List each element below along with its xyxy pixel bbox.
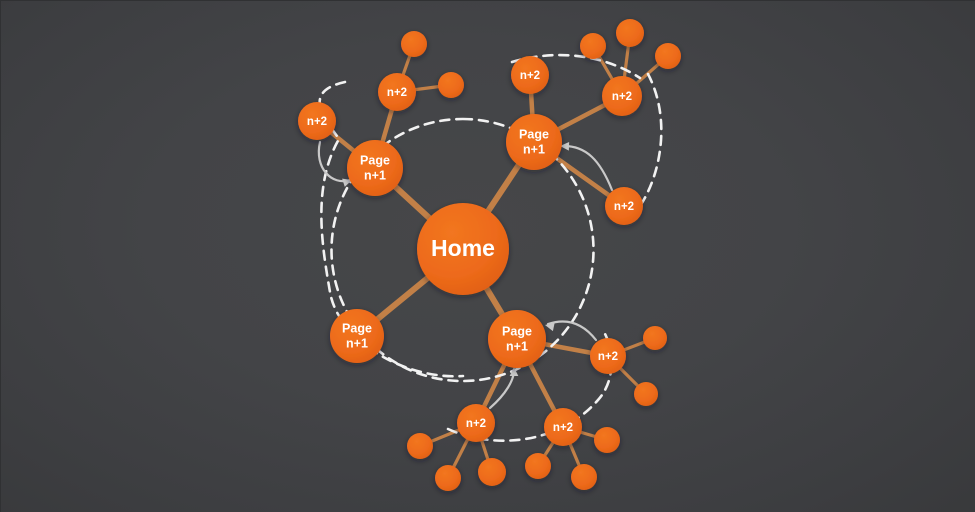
node-circle[interactable] [330,309,384,363]
node-circle[interactable] [506,114,562,170]
node-l13-leaf[interactable] [594,427,620,453]
node-p1-bl[interactable]: Pagen+1 [330,309,384,363]
node-circle[interactable] [401,31,427,57]
node-circle[interactable] [438,72,464,98]
node-circle[interactable] [478,458,506,486]
node-circle[interactable] [407,433,433,459]
node-n2-b[interactable]: n+2 [298,102,336,140]
node-circle[interactable] [488,310,546,368]
node-circle[interactable] [616,19,644,47]
node-l07-leaf[interactable] [634,382,658,406]
node-l08-leaf[interactable] [407,433,433,459]
node-circle[interactable] [417,203,509,295]
node-circle[interactable] [590,338,626,374]
node-n2-f[interactable]: n+2 [590,338,626,374]
diagram-canvas: HomePagen+1Pagen+1Pagen+1Pagen+1n+2n+2n+… [0,0,975,512]
node-circle[interactable] [634,382,658,406]
node-l05-leaf[interactable] [655,43,681,69]
node-l06-leaf[interactable] [643,326,667,350]
node-circle[interactable] [602,76,642,116]
node-l10-leaf[interactable] [478,458,506,486]
node-circle[interactable] [298,102,336,140]
network-diagram[interactable]: HomePagen+1Pagen+1Pagen+1Pagen+1n+2n+2n+… [0,0,975,512]
node-circle[interactable] [594,427,620,453]
node-n2-d[interactable]: n+2 [602,76,642,116]
node-circle[interactable] [347,140,403,196]
node-p1-tl[interactable]: Pagen+1 [347,140,403,196]
node-circle[interactable] [457,404,495,442]
node-circle[interactable] [655,43,681,69]
node-l12-leaf[interactable] [571,464,597,490]
guide-right-loop [640,74,661,206]
arrow-n2f-to-p1bc [548,321,596,340]
node-circle[interactable] [605,187,643,225]
node-circle[interactable] [544,408,582,446]
node-circle[interactable] [643,326,667,350]
node-p1-tr[interactable]: Pagen+1 [506,114,562,170]
node-n2-c[interactable]: n+2 [511,56,549,94]
node-circle[interactable] [378,73,416,111]
node-circle[interactable] [511,56,549,94]
node-circle[interactable] [435,465,461,491]
node-home[interactable]: Home [417,203,509,295]
node-layer[interactable]: HomePagen+1Pagen+1Pagen+1Pagen+1n+2n+2n+… [298,19,681,491]
node-p1-bc[interactable]: Pagen+1 [488,310,546,368]
node-l03-leaf[interactable] [580,33,606,59]
node-l01-leaf[interactable] [401,31,427,57]
node-n2-e[interactable]: n+2 [605,187,643,225]
node-l11-leaf[interactable] [525,453,551,479]
node-n2-h[interactable]: n+2 [544,408,582,446]
node-n2-g[interactable]: n+2 [457,404,495,442]
node-circle[interactable] [580,33,606,59]
node-n2-a[interactable]: n+2 [378,73,416,111]
node-l09-leaf[interactable] [435,465,461,491]
node-l04-leaf[interactable] [616,19,644,47]
node-circle[interactable] [525,453,551,479]
node-circle[interactable] [571,464,597,490]
node-l02-leaf[interactable] [438,72,464,98]
